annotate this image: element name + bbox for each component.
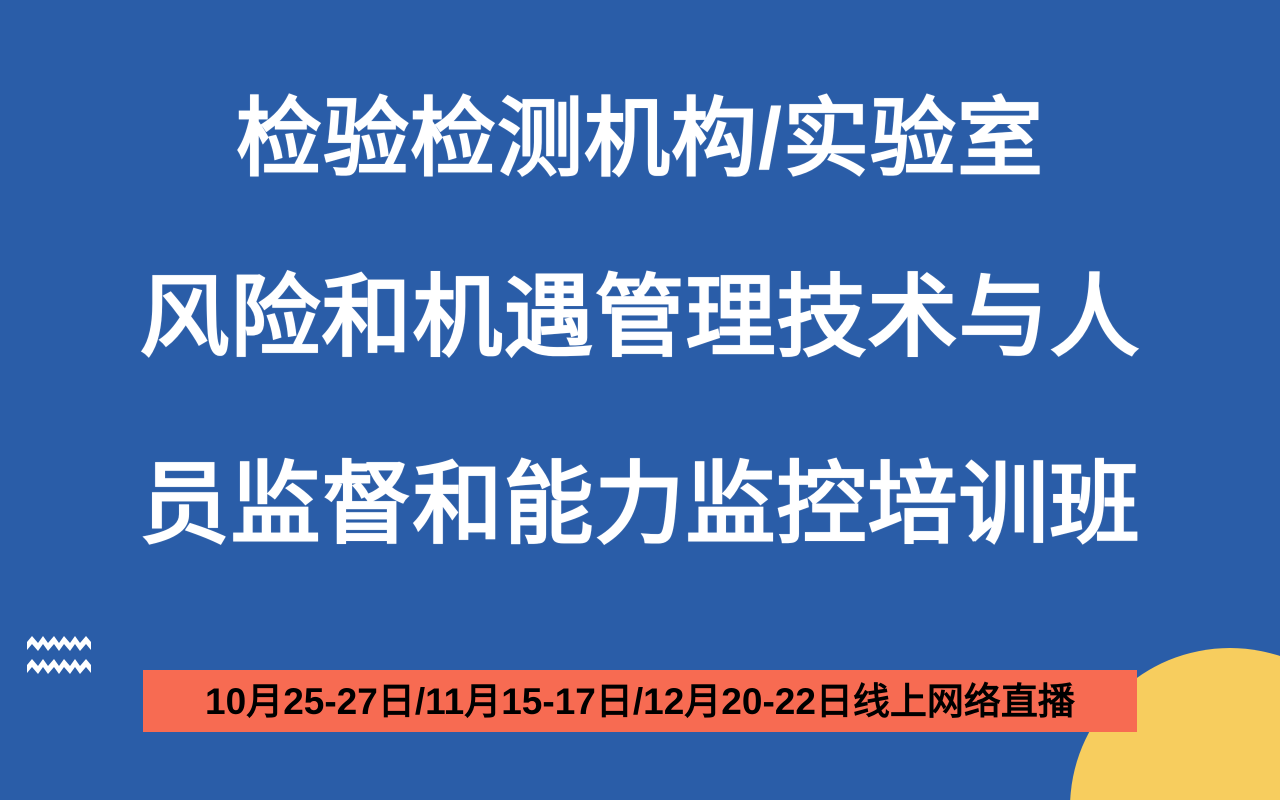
zigzag-wave-icon [27,636,91,682]
title-line-1: 检验检测机构/实验室 [0,96,1280,182]
date-banner: 10月25-27日/11月15-17日/12月20-22日线上网络直播 [143,670,1137,732]
poster-canvas: 检验检测机构/实验室 风险和机遇管理技术与人 员监督和能力监控培训班 10月25… [0,0,1280,800]
title-line-2: 风险和机遇管理技术与人 [0,273,1280,363]
page-title: 检验检测机构/实验室 风险和机遇管理技术与人 员监督和能力监控培训班 [0,0,1280,550]
title-line-3: 员监督和能力监控培训班 [0,460,1280,550]
date-banner-text: 10月25-27日/11月15-17日/12月20-22日线上网络直播 [205,683,1075,720]
